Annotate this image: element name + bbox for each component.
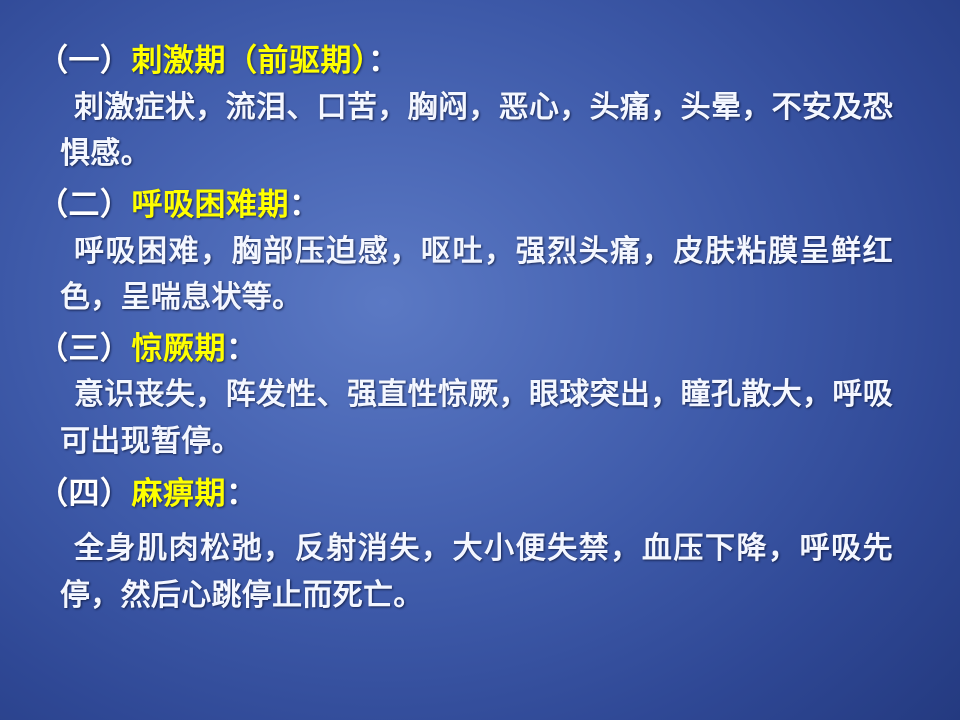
section-number: （三） (37, 331, 132, 367)
section-term: 麻痹期 (132, 476, 227, 512)
section-body: 刺激症状，流泪、口苦，胸闷，恶心，头痛，头晕，不安及恐惧感。 (37, 85, 915, 178)
section-colon: ： (368, 43, 400, 79)
section-colon: ： (289, 187, 321, 223)
section-convulsion-phase: （三）惊厥期： 意识丧失，阵发性、强直性惊厥，眼球突出，瞳孔散大，呼吸可出现暂停… (37, 328, 915, 466)
section-number: （二） (37, 187, 132, 223)
section-heading: （三）惊厥期： (37, 328, 915, 371)
section-body: 呼吸困难，胸部压迫感，呕吐，强烈头痛，皮肤粘膜呈鲜红色，呈喘息状等。 (37, 229, 915, 322)
section-heading: （二）呼吸困难期： (37, 184, 915, 227)
section-stimulation-phase: （一）刺激期（前驱期）： 刺激症状，流泪、口苦，胸闷，恶心，头痛，头晕，不安及恐… (37, 40, 915, 178)
section-heading: （四）麻痹期： (37, 473, 915, 516)
section-paralysis-phase: （四）麻痹期： 全身肌肉松弛，反射消失，大小便失禁，血压下降，呼吸先停，然后心跳… (37, 473, 915, 619)
section-term: 惊厥期 (132, 331, 227, 367)
section-number: （一） (37, 43, 132, 79)
section-colon: ： (226, 331, 258, 367)
section-term: 刺激期（前驱期） (132, 43, 369, 79)
section-heading: （一）刺激期（前驱期）： (37, 40, 915, 83)
slide-content: （一）刺激期（前驱期）： 刺激症状，流泪、口苦，胸闷，恶心，头痛，头晕，不安及恐… (0, 0, 960, 720)
section-number: （四） (37, 476, 132, 512)
slide-canvas: （一）刺激期（前驱期）： 刺激症状，流泪、口苦，胸闷，恶心，头痛，头晕，不安及恐… (0, 0, 960, 720)
section-body: 全身肌肉松弛，反射消失，大小便失禁，血压下降，呼吸先停，然后心跳停止而死亡。 (37, 526, 915, 619)
section-body: 意识丧失，阵发性、强直性惊厥，眼球突出，瞳孔散大，呼吸可出现暂停。 (37, 372, 915, 465)
section-dyspnea-phase: （二）呼吸困难期： 呼吸困难，胸部压迫感，呕吐，强烈头痛，皮肤粘膜呈鲜红色，呈喘… (37, 184, 915, 322)
section-term: 呼吸困难期 (132, 187, 290, 223)
section-colon: ： (226, 476, 258, 512)
